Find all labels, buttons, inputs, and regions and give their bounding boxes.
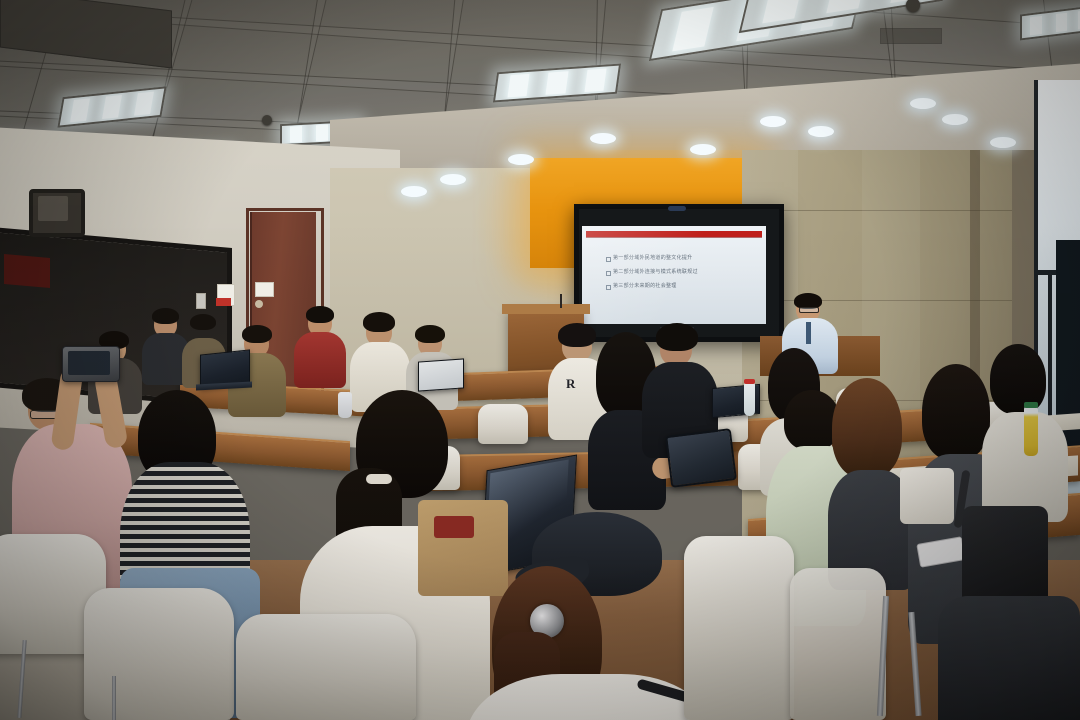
shirt-letter-R: R [566, 376, 576, 390]
wall-sign-notice [255, 282, 274, 297]
lectern-mic [560, 294, 562, 308]
recessed-downlight [910, 98, 936, 109]
handbag [962, 506, 1048, 606]
recessed-downlight [508, 154, 534, 165]
recessed-downlight [590, 133, 616, 144]
chair[interactable] [478, 404, 528, 444]
chair[interactable] [790, 568, 886, 720]
bottle-cap [1024, 402, 1038, 408]
tea-bottle-right[interactable] [1024, 406, 1038, 456]
presenter-glasses [799, 307, 819, 313]
hair [306, 306, 334, 323]
hair-tie [366, 474, 392, 484]
chair[interactable] [84, 588, 234, 720]
hair [922, 364, 990, 460]
hair [415, 325, 445, 343]
laptop-back-row[interactable] [418, 358, 464, 391]
wall-sign-red [216, 298, 231, 306]
presenter-tie [806, 322, 811, 344]
chair[interactable] [236, 614, 416, 720]
air-vent [880, 28, 942, 44]
bottle-cap [744, 379, 755, 384]
recessed-downlight [942, 114, 968, 125]
camera-screen [68, 351, 110, 375]
hair [190, 314, 216, 330]
lectern-top [502, 304, 590, 314]
recessed-downlight [401, 186, 427, 197]
chair[interactable] [684, 536, 794, 720]
hair [832, 378, 902, 478]
tablet[interactable] [665, 428, 737, 488]
hair [558, 323, 596, 347]
clock-face [38, 196, 68, 221]
screen-glare [582, 226, 766, 324]
tote-bag [418, 500, 508, 596]
wall-sign-poster [196, 293, 206, 309]
cup-mid-left[interactable] [338, 392, 352, 418]
hair [152, 308, 179, 324]
video-conference-camera [668, 206, 686, 211]
recessed-downlight [760, 116, 786, 127]
tote-bag-white [900, 468, 954, 524]
chair-leg [112, 676, 116, 720]
sprinkler-head [262, 115, 272, 125]
photograph-scene: 第一部分域外民地道的整文化提升 第二部分域外连接与模式系统联规过 第三部分未来期… [0, 0, 1080, 720]
recessed-downlight [990, 137, 1016, 148]
person-foreground-right [938, 596, 1080, 720]
hair [656, 323, 698, 351]
recessed-downlight [690, 144, 716, 155]
recessed-downlight [440, 174, 466, 185]
bag-logo-patch [434, 516, 474, 538]
door-knob[interactable] [255, 300, 263, 308]
recessed-downlight [808, 126, 834, 137]
water-bottle-mid[interactable] [744, 382, 755, 416]
hair [242, 325, 272, 343]
blackboard-red-marking [4, 254, 50, 288]
torso [294, 332, 346, 388]
hair [363, 312, 395, 332]
